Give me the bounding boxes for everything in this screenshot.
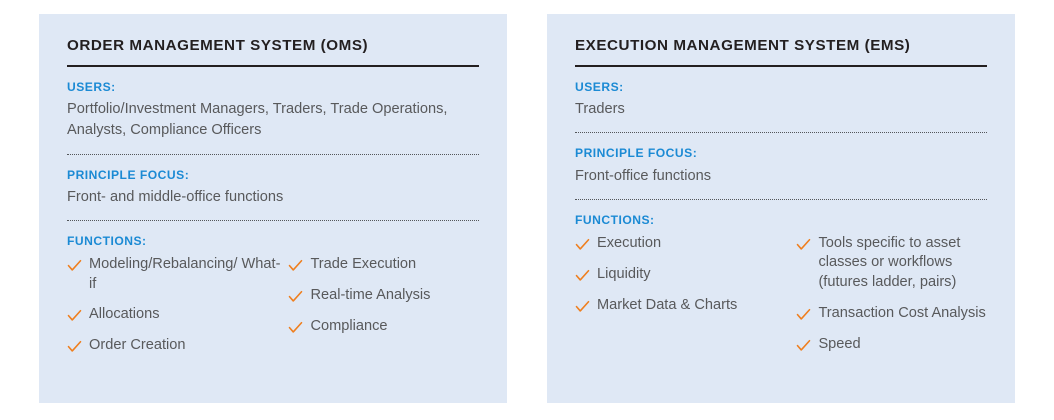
section-label-focus-ems: PRINCIPLE FOCUS: — [575, 146, 987, 161]
divider-users-ems — [575, 132, 987, 133]
list-item-label: Real-time Analysis — [310, 286, 430, 306]
list-item: Liquidity — [575, 265, 788, 285]
section-body-focus-ems: Front-office functions — [575, 166, 987, 187]
check-icon — [575, 267, 590, 285]
functions-column-a-oms: Modeling/Rebalancing/ What-if Allocation… — [67, 255, 288, 368]
divider-focus-oms — [67, 220, 479, 221]
list-item-label: Trade Execution — [310, 255, 416, 275]
section-body-focus-oms: Front- and middle-office functions — [67, 187, 479, 208]
list-item: Market Data & Charts — [575, 296, 788, 316]
list-item-label: Modeling/Rebalancing/ What-if — [89, 255, 280, 295]
list-item: Order Creation — [67, 336, 280, 356]
list-item: Allocations — [67, 305, 280, 325]
section-label-users-ems: USERS: — [575, 80, 987, 95]
check-icon — [67, 257, 82, 275]
functions-column-b-oms: Trade Execution Real-time Analysis Compl… — [288, 255, 479, 348]
title-rule-ems — [575, 65, 987, 67]
divider-focus-ems — [575, 199, 987, 200]
list-item-label: Tools specific to asset classes or workf… — [818, 234, 987, 294]
title-rule-oms — [67, 65, 479, 67]
section-label-users-oms: USERS: — [67, 80, 479, 95]
check-icon — [288, 319, 303, 337]
check-icon — [796, 236, 811, 254]
section-users-ems: USERS: Traders — [575, 80, 987, 121]
check-icon — [67, 338, 82, 356]
check-icon — [796, 337, 811, 355]
section-users-oms: USERS: Portfolio/Investment Managers, Tr… — [67, 80, 479, 142]
section-functions-oms: FUNCTIONS: Modeling/Rebalancing/ What-if… — [67, 234, 479, 367]
check-icon — [288, 288, 303, 306]
section-body-users-oms: Portfolio/Investment Managers, Traders, … — [67, 99, 479, 141]
check-icon — [575, 236, 590, 254]
section-focus-oms: PRINCIPLE FOCUS: Front- and middle-offic… — [67, 168, 479, 209]
section-body-users-ems: Traders — [575, 99, 987, 120]
functions-columns-oms: Modeling/Rebalancing/ What-if Allocation… — [67, 255, 479, 368]
section-functions-ems: FUNCTIONS: Execution Liquidity Market Da… — [575, 213, 987, 366]
panel-title-oms: ORDER MANAGEMENT SYSTEM (OMS) — [67, 38, 479, 55]
panel-title-ems: EXECUTION MANAGEMENT SYSTEM (EMS) — [575, 38, 987, 55]
section-focus-ems: PRINCIPLE FOCUS: Front-office functions — [575, 146, 987, 187]
list-item-label: Compliance — [310, 317, 387, 337]
check-icon — [575, 298, 590, 316]
section-label-focus-oms: PRINCIPLE FOCUS: — [67, 168, 479, 183]
list-item-label: Order Creation — [89, 336, 186, 356]
functions-column-a-ems: Execution Liquidity Market Data & Charts — [575, 234, 796, 327]
list-item-label: Allocations — [89, 305, 160, 325]
list-item-label: Market Data & Charts — [597, 296, 737, 316]
list-item: Tools specific to asset classes or workf… — [796, 234, 987, 294]
check-icon — [67, 307, 82, 325]
list-item: Transaction Cost Analysis — [796, 304, 987, 324]
panel-ems: EXECUTION MANAGEMENT SYSTEM (EMS) USERS:… — [547, 14, 1015, 403]
list-item: Execution — [575, 234, 788, 254]
list-item: Real-time Analysis — [288, 286, 479, 306]
list-item-label: Speed — [818, 335, 860, 355]
list-item-label: Execution — [597, 234, 661, 254]
comparison-board: ORDER MANAGEMENT SYSTEM (OMS) USERS: Por… — [0, 0, 1054, 420]
list-item-label: Transaction Cost Analysis — [818, 304, 985, 324]
check-icon — [288, 257, 303, 275]
list-item: Modeling/Rebalancing/ What-if — [67, 255, 280, 295]
list-item-label: Liquidity — [597, 265, 651, 285]
list-item: Compliance — [288, 317, 479, 337]
panel-oms: ORDER MANAGEMENT SYSTEM (OMS) USERS: Por… — [39, 14, 507, 403]
list-item: Speed — [796, 335, 987, 355]
functions-column-b-ems: Tools specific to asset classes or workf… — [796, 234, 987, 367]
divider-users-oms — [67, 154, 479, 155]
section-label-functions-ems: FUNCTIONS: — [575, 213, 987, 228]
section-label-functions-oms: FUNCTIONS: — [67, 234, 479, 249]
functions-columns-ems: Execution Liquidity Market Data & Charts — [575, 234, 987, 367]
check-icon — [796, 306, 811, 324]
list-item: Trade Execution — [288, 255, 479, 275]
